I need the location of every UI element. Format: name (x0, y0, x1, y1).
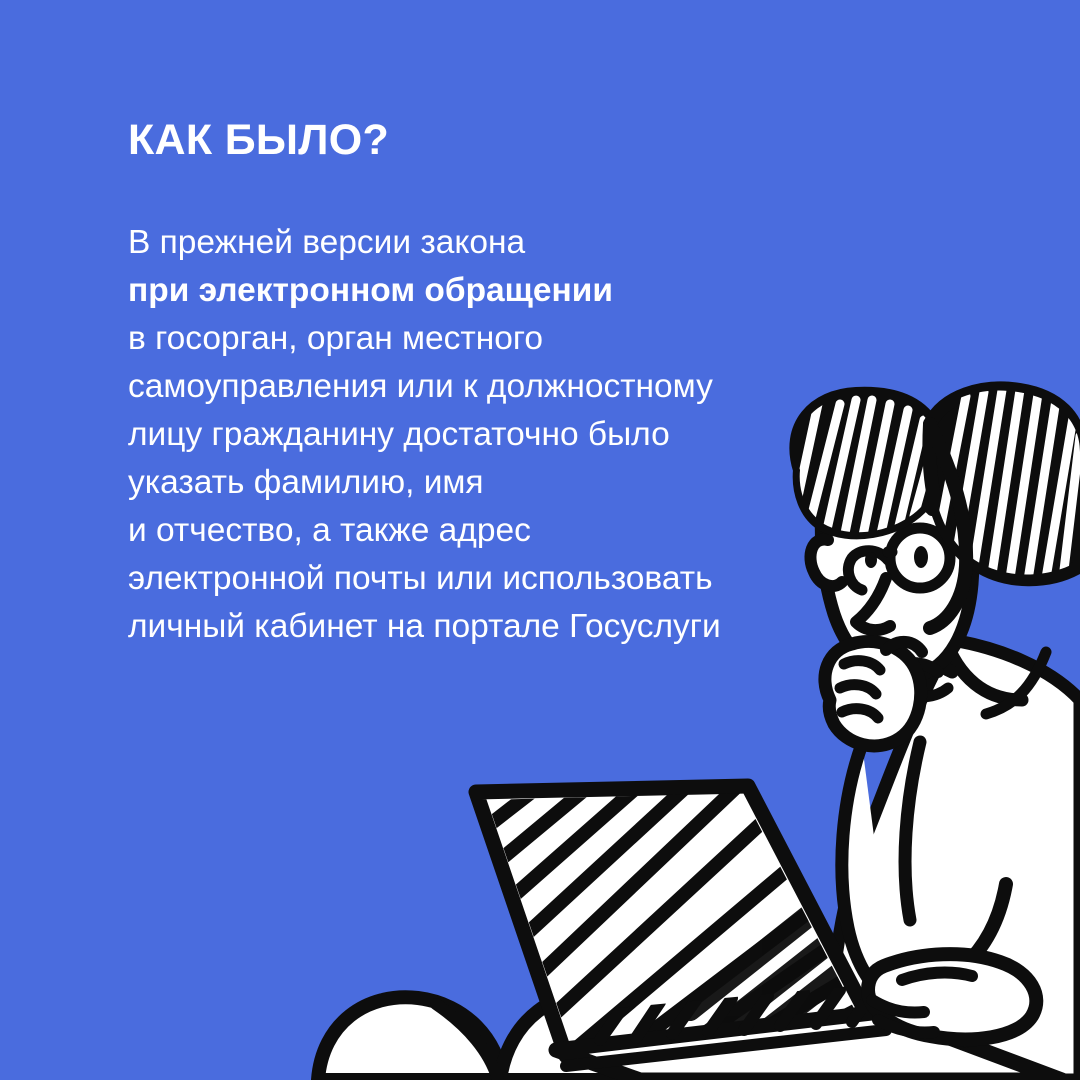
chin-line (900, 688, 948, 697)
body-line-6: указать фамилию, имя (128, 459, 848, 507)
typing-hand-fingers (872, 973, 972, 1033)
hair-fringe (930, 424, 966, 628)
hair-scribble-right (929, 388, 1080, 579)
body-line-5: лицу гражданину достаточно было (128, 411, 848, 459)
laptop-screen (476, 786, 872, 1056)
eyebrow (896, 503, 932, 512)
typing-arm (892, 884, 1006, 990)
body-line-2: при электронном обращении (128, 267, 848, 315)
thinking-arm-outer (905, 742, 920, 920)
typing-hand (868, 954, 1036, 1039)
body-line-7: и отчество, а также адрес (128, 507, 848, 555)
thumb (886, 642, 922, 652)
text-block: КАК БЫЛО? В прежней версии законапри эле… (128, 118, 848, 651)
knee-crease (436, 1004, 498, 1080)
nose (856, 578, 890, 630)
knee-right (500, 991, 706, 1080)
page-title: КАК БЫЛО? (128, 118, 848, 163)
fist-knuckles (840, 661, 880, 718)
torso-shape (829, 640, 1080, 1080)
hair-scribble-right-strokes (938, 390, 1080, 580)
glasses-lens-left (848, 551, 888, 590)
thinking-arm (842, 744, 896, 1006)
body-line-8: электронной почты или использовать (128, 555, 848, 603)
body-line-9: личный кабинет на портале Госуслуги (128, 603, 848, 651)
laptop-keyboard-keys (600, 988, 990, 1042)
body-line-1: В прежней версии закона (128, 219, 848, 267)
thinking-fist (825, 642, 921, 746)
body-copy: В прежней версии законапри электронном о… (128, 219, 848, 651)
eye-left (865, 552, 877, 568)
knee-left (318, 997, 502, 1080)
body-line-4: самоуправления или к должностному (128, 363, 848, 411)
shirt-collar-inner (986, 652, 1046, 714)
shirt-collar (944, 636, 1022, 700)
neck (906, 600, 952, 672)
slide-canvas: КАК БЫЛО? В прежней версии законапри эле… (0, 0, 1080, 1080)
laptop-base-edge (566, 1030, 886, 1066)
laptop-base (556, 1012, 1062, 1080)
laptop-screen-hatching (470, 770, 888, 1068)
mouth (892, 663, 938, 672)
body-line-3: в госорган, орган местного (128, 315, 848, 363)
glasses-lens-right (890, 528, 950, 588)
eye-right (914, 546, 928, 568)
